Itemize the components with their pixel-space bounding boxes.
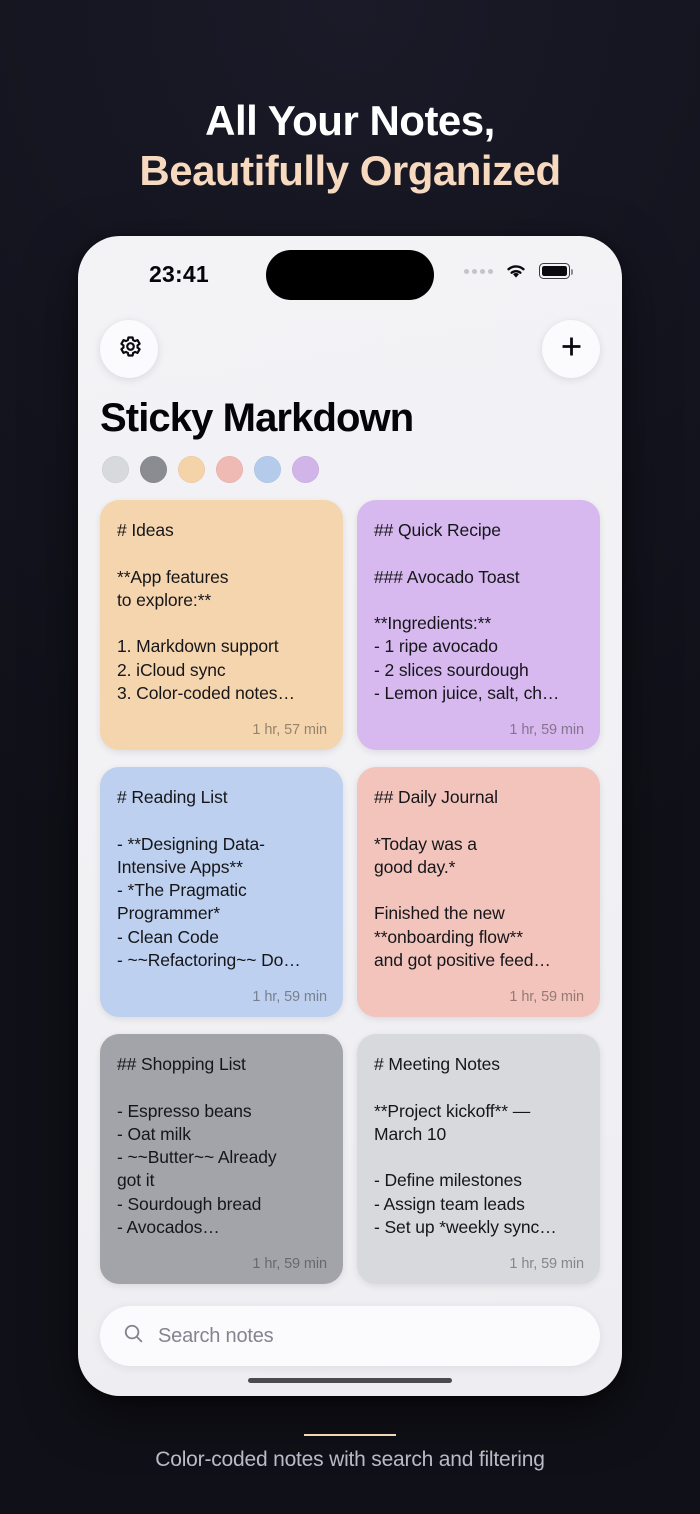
battery-icon [539,263,570,279]
status-bar: 23:41 [78,236,622,308]
status-indicators [464,262,570,280]
caption-divider [304,1434,396,1436]
note-timestamp: 1 hr, 59 min [509,722,584,738]
note-card[interactable]: ## Shopping List - Espresso beans - Oat … [100,1034,343,1284]
home-indicator [248,1378,452,1384]
note-body: ## Quick Recipe ### Avocado Toast **Ingr… [374,519,583,705]
settings-button[interactable] [100,320,158,378]
gear-icon [116,333,143,365]
phone-mockup: 23:41 [78,236,622,1396]
app-toolbar [78,308,622,400]
note-timestamp: 1 hr, 59 min [509,1256,584,1272]
color-filter-purple[interactable] [292,456,319,483]
color-filter-peach[interactable] [178,456,205,483]
headline-line-1: All Your Notes, [0,96,700,146]
promo-page: All Your Notes, Beautifully Organized 23… [0,0,700,1514]
note-body: # Ideas **App features to explore:** 1. … [117,519,326,705]
color-filter-blue[interactable] [254,456,281,483]
note-timestamp: 1 hr, 59 min [509,989,584,1005]
note-body: ## Shopping List - Espresso beans - Oat … [117,1053,326,1239]
caption-text: Color-coded notes with search and filter… [0,1448,700,1472]
plus-icon [557,332,586,366]
note-card[interactable]: # Reading List - **Designing Data- Inten… [100,767,343,1017]
search-icon [122,1322,145,1350]
note-card[interactable]: ## Quick Recipe ### Avocado Toast **Ingr… [357,500,600,750]
note-card[interactable]: # Meeting Notes **Project kickoff** — Ma… [357,1034,600,1284]
headline: All Your Notes, Beautifully Organized [0,96,700,195]
search-placeholder: Search notes [158,1325,273,1348]
note-body: ## Daily Journal *Today was a good day.*… [374,786,583,972]
note-body: # Meeting Notes **Project kickoff** — Ma… [374,1053,583,1239]
color-filter-light-gray[interactable] [102,456,129,483]
dynamic-island [266,250,434,300]
notes-grid: # Ideas **App features to explore:** 1. … [78,483,622,1284]
search-section: Search notes [78,1284,622,1366]
headline-line-2: Beautifully Organized [0,146,700,196]
search-input[interactable]: Search notes [100,1306,600,1366]
note-timestamp: 1 hr, 59 min [252,989,327,1005]
wifi-icon [504,262,528,280]
color-filter-list [78,441,622,483]
note-timestamp: 1 hr, 59 min [252,1256,327,1272]
note-body: # Reading List - **Designing Data- Inten… [117,786,326,972]
note-card[interactable]: # Ideas **App features to explore:** 1. … [100,500,343,750]
note-card[interactable]: ## Daily Journal *Today was a good day.*… [357,767,600,1017]
page-title: Sticky Markdown [78,396,622,441]
add-note-button[interactable] [542,320,600,378]
signal-dots-icon [464,269,493,274]
note-timestamp: 1 hr, 57 min [252,722,327,738]
color-filter-dark-gray[interactable] [140,456,167,483]
color-filter-pink[interactable] [216,456,243,483]
status-time: 23:41 [149,261,209,288]
